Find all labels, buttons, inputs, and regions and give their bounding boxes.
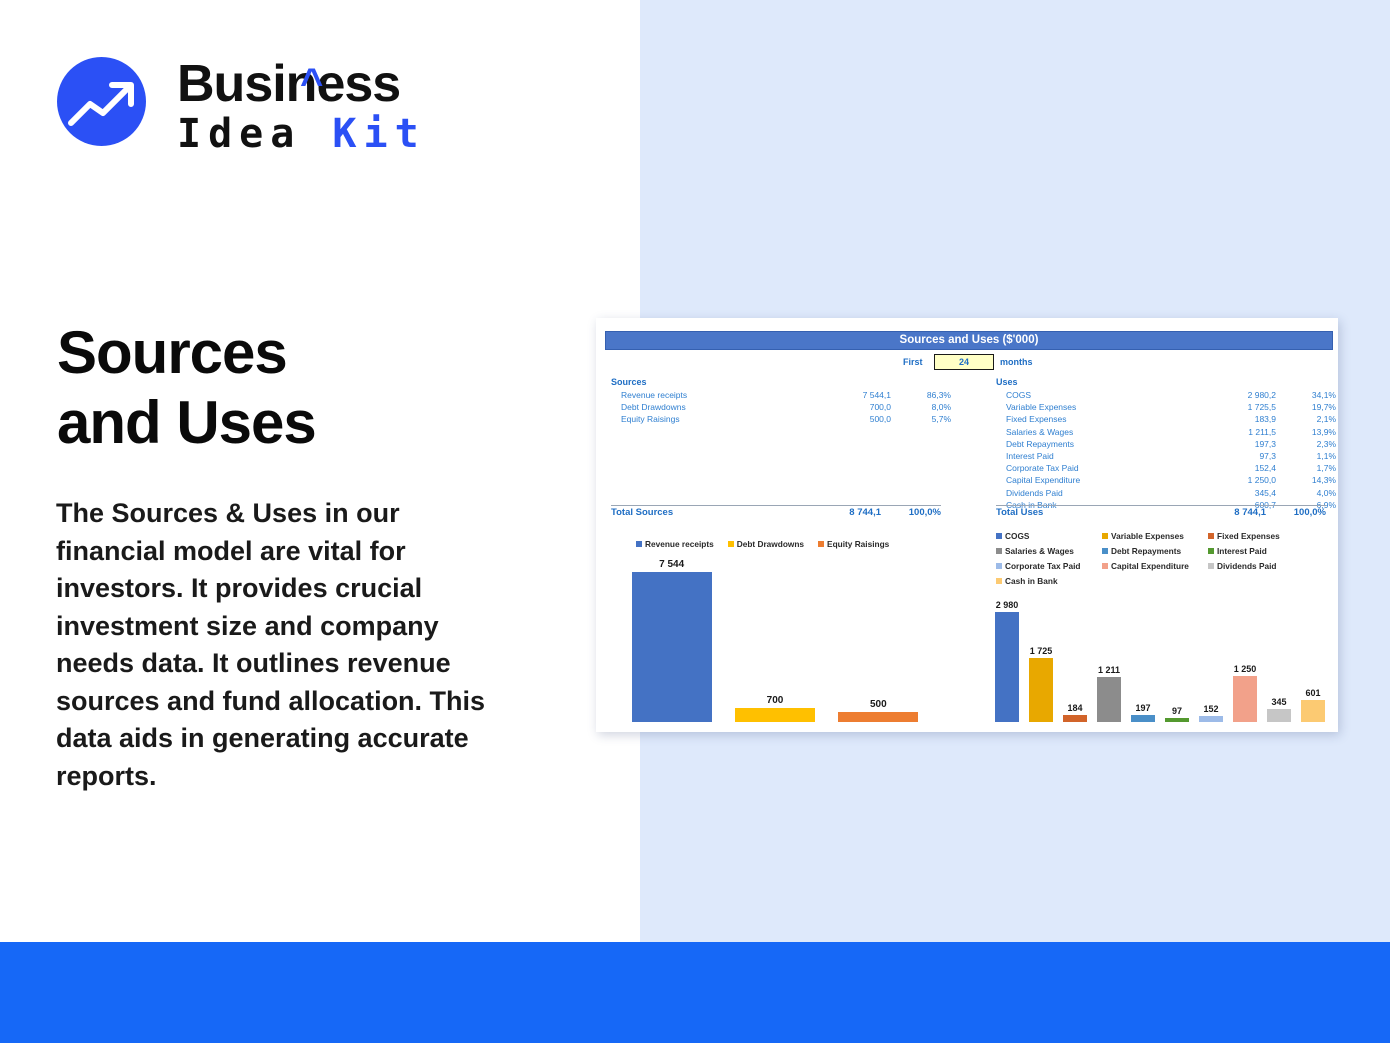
uses-row-name: Variable Expenses	[996, 401, 1206, 413]
legend-item[interactable]: Equity Raisings	[818, 539, 889, 549]
bar[interactable]	[735, 708, 815, 722]
table-row: COGS2 980,234,1%	[996, 389, 1326, 401]
uses-row-name: COGS	[996, 389, 1206, 401]
table-row: Salaries & Wages1 211,513,9%	[996, 426, 1326, 438]
legend-swatch-icon	[996, 533, 1002, 539]
table-row: Capital Expenditure1 250,014,3%	[996, 474, 1326, 486]
legend-item[interactable]: Cash in Bank	[996, 576, 1102, 586]
table-row: Corporate Tax Paid152,41,7%	[996, 462, 1326, 474]
uses-row-value: 1 725,5	[1206, 401, 1276, 413]
uses-row-pct: 1,1%	[1276, 450, 1336, 462]
legend-label: Interest Paid	[1217, 546, 1267, 556]
bar-value-label: 1 250	[1234, 664, 1257, 674]
bar-group: 197	[1126, 590, 1160, 722]
uses-table-body: COGS2 980,234,1%Variable Expenses1 725,5…	[996, 389, 1326, 511]
sources-row-pct: 86,3%	[891, 389, 951, 401]
brand-name-kit: Kit	[332, 111, 425, 157]
legend-label: Revenue receipts	[645, 539, 714, 549]
uses-row-value: 1 211,5	[1206, 426, 1276, 438]
bar-group: 2 980	[990, 590, 1024, 722]
sources-table-body: Revenue receipts7 544,186,3%Debt Drawdow…	[611, 389, 941, 426]
sources-bar-chart: 7 544700500	[620, 556, 930, 722]
legend-label: Variable Expenses	[1111, 531, 1184, 541]
uses-total-value: 8 744,1	[1196, 506, 1266, 520]
uses-table: Uses COGS2 980,234,1%Variable Expenses1 …	[996, 377, 1326, 511]
uses-row-name: Fixed Expenses	[996, 413, 1206, 425]
legend-swatch-icon	[728, 541, 734, 547]
uses-row-name: Corporate Tax Paid	[996, 462, 1206, 474]
legend-item[interactable]: Fixed Expenses	[1208, 531, 1314, 541]
legend-label: Debt Drawdowns	[737, 539, 804, 549]
bar[interactable]	[1233, 676, 1257, 722]
bar-value-label: 184	[1067, 703, 1082, 713]
assumption-suffix-label: months	[1000, 357, 1033, 367]
uses-row-name: Debt Repayments	[996, 438, 1206, 450]
uses-row-value: 97,3	[1206, 450, 1276, 462]
uses-row-value: 152,4	[1206, 462, 1276, 474]
sources-total-label: Total Sources	[611, 506, 811, 520]
legend-item[interactable]: Variable Expenses	[1102, 531, 1208, 541]
sources-table-header: Sources	[611, 377, 941, 389]
bar-value-label: 700	[767, 695, 784, 706]
table-row: Revenue receipts7 544,186,3%	[611, 389, 941, 401]
months-input[interactable]: 24	[934, 354, 994, 370]
bar[interactable]	[838, 712, 918, 722]
sources-row-pct: 5,7%	[891, 413, 951, 425]
uses-row-name: Interest Paid	[996, 450, 1206, 462]
legend-label: Corporate Tax Paid	[1005, 561, 1080, 571]
uses-total-row: Total Uses 8 744,1 100,0%	[996, 506, 1326, 520]
legend-item[interactable]: Revenue receipts	[636, 539, 714, 549]
sources-row-name: Equity Raisings	[611, 413, 821, 425]
uses-total-label: Total Uses	[996, 506, 1196, 520]
legend-item[interactable]: Debt Repayments	[1102, 546, 1208, 556]
brand-circumflex-accent: ^	[300, 61, 323, 106]
bar[interactable]	[632, 572, 712, 722]
uses-row-pct: 2,1%	[1276, 413, 1336, 425]
bar-group: 1 250	[1228, 590, 1262, 722]
bar[interactable]	[1131, 715, 1155, 722]
uses-row-name: Capital Expenditure	[996, 474, 1206, 486]
uses-row-pct: 19,7%	[1276, 401, 1336, 413]
page-title: Sources and Uses	[57, 318, 597, 458]
table-row: Interest Paid97,31,1%	[996, 450, 1326, 462]
bar[interactable]	[1165, 718, 1189, 722]
legend-item[interactable]: COGS	[996, 531, 1102, 541]
uses-bars: 2 9801 7251841 211197971521 250345601	[990, 590, 1330, 722]
uses-row-value: 197,3	[1206, 438, 1276, 450]
bar-value-label: 1 725	[1030, 646, 1053, 656]
sources-total-pct: 100,0%	[881, 506, 941, 520]
uses-row-value: 183,9	[1206, 413, 1276, 425]
uses-row-name: Salaries & Wages	[996, 426, 1206, 438]
bar-group: 7 544	[620, 556, 723, 722]
bar[interactable]	[1063, 715, 1087, 722]
uses-total-row-wrap: Total Uses 8 744,1 100,0%	[996, 503, 1326, 520]
uses-row-pct: 13,9%	[1276, 426, 1336, 438]
sources-chart-legend: Revenue receiptsDebt DrawdownsEquity Rai…	[636, 539, 936, 549]
bar[interactable]	[1301, 700, 1325, 722]
uses-row-value: 345,4	[1206, 487, 1276, 499]
uses-row-pct: 2,3%	[1276, 438, 1336, 450]
brand-name-top: Business	[177, 55, 400, 113]
legend-item[interactable]: Interest Paid	[1208, 546, 1314, 556]
uses-chart-legend: COGSVariable ExpensesFixed ExpensesSalar…	[996, 531, 1316, 591]
sources-total-row-wrap: Total Sources 8 744,1 100,0%	[611, 503, 941, 520]
bar-value-label: 1 211	[1098, 665, 1120, 675]
sources-row-name: Debt Drawdowns	[611, 401, 821, 413]
brand-logo: Business ^ Idea Kit	[57, 57, 437, 157]
bar-group: 1 211	[1092, 590, 1126, 722]
legend-swatch-icon	[1208, 533, 1214, 539]
sources-bars: 7 544700500	[620, 556, 930, 722]
legend-swatch-icon	[996, 578, 1002, 584]
uses-row-value: 2 980,2	[1206, 389, 1276, 401]
bar[interactable]	[1029, 658, 1053, 722]
bar[interactable]	[1097, 677, 1121, 722]
assumption-prefix-label: First	[903, 357, 923, 367]
footer-bar	[0, 942, 1390, 1043]
bar-value-label: 152	[1203, 704, 1218, 714]
bar[interactable]	[1199, 716, 1223, 722]
table-row: Debt Repayments197,32,3%	[996, 438, 1326, 450]
legend-item[interactable]: Corporate Tax Paid	[996, 561, 1102, 571]
bar-value-label: 345	[1271, 697, 1286, 707]
sources-total-row: Total Sources 8 744,1 100,0%	[611, 506, 941, 520]
uses-row-name: Dividends Paid	[996, 487, 1206, 499]
legend-swatch-icon	[1208, 548, 1214, 554]
sources-row-value: 500,0	[821, 413, 891, 425]
bar-value-label: 7 544	[659, 559, 684, 570]
legend-swatch-icon	[1102, 548, 1108, 554]
brand-name-idea: Idea	[177, 111, 301, 157]
uses-total-pct: 100,0%	[1266, 506, 1326, 520]
legend-swatch-icon	[818, 541, 824, 547]
bar-group: 184	[1058, 590, 1092, 722]
table-row: Debt Drawdowns700,08,0%	[611, 401, 941, 413]
bar-group: 152	[1194, 590, 1228, 722]
legend-label: Equity Raisings	[827, 539, 889, 549]
sources-table: Sources Revenue receipts7 544,186,3%Debt…	[611, 377, 941, 426]
bar-value-label: 197	[1135, 703, 1150, 713]
bar-group: 700	[723, 556, 826, 722]
page-description: The Sources & Uses in our financial mode…	[56, 495, 506, 795]
table-row: Fixed Expenses183,92,1%	[996, 413, 1326, 425]
bar-value-label: 2 980	[996, 600, 1019, 610]
sources-row-value: 7 544,1	[821, 389, 891, 401]
uses-row-pct: 14,3%	[1276, 474, 1336, 486]
legend-label: Dividends Paid	[1217, 561, 1276, 571]
sources-row-name: Revenue receipts	[611, 389, 821, 401]
bar-value-label: 601	[1305, 688, 1320, 698]
legend-swatch-icon	[1102, 563, 1108, 569]
legend-label: Fixed Expenses	[1217, 531, 1280, 541]
legend-swatch-icon	[636, 541, 642, 547]
legend-label: Capital Expenditure	[1111, 561, 1189, 571]
trending-up-arrow-icon	[57, 57, 146, 146]
legend-item[interactable]: Capital Expenditure	[1102, 561, 1208, 571]
uses-row-pct: 4,0%	[1276, 487, 1336, 499]
uses-bar-chart: 2 9801 7251841 211197971521 250345601	[990, 590, 1330, 722]
bar-value-label: 97	[1172, 706, 1182, 716]
table-row: Variable Expenses1 725,519,7%	[996, 401, 1326, 413]
bar-group: 500	[827, 556, 930, 722]
uses-row-pct: 34,1%	[1276, 389, 1336, 401]
bar-group: 1 725	[1024, 590, 1058, 722]
sources-total-value: 8 744,1	[811, 506, 881, 520]
legend-label: Salaries & Wages	[1005, 546, 1074, 556]
page-title-line-2: and Uses	[57, 388, 597, 458]
uses-row-value: 1 250,0	[1206, 474, 1276, 486]
legend-swatch-icon	[1102, 533, 1108, 539]
bar-group: 345	[1262, 590, 1296, 722]
legend-label: COGS	[1005, 531, 1029, 541]
table-row: Equity Raisings500,05,7%	[611, 413, 941, 425]
bar[interactable]	[1267, 709, 1291, 722]
legend-swatch-icon	[996, 563, 1002, 569]
legend-label: Cash in Bank	[1005, 576, 1058, 586]
sources-row-value: 700,0	[821, 401, 891, 413]
uses-row-pct: 1,7%	[1276, 462, 1336, 474]
legend-swatch-icon	[996, 548, 1002, 554]
bar-group: 601	[1296, 590, 1330, 722]
sources-row-pct: 8,0%	[891, 401, 951, 413]
legend-item[interactable]: Salaries & Wages	[996, 546, 1102, 556]
legend-swatch-icon	[1208, 563, 1214, 569]
bar-group: 97	[1160, 590, 1194, 722]
legend-item[interactable]: Dividends Paid	[1208, 561, 1314, 571]
bar-value-label: 500	[870, 699, 887, 710]
legend-item[interactable]: Debt Drawdowns	[728, 539, 804, 549]
table-row: Dividends Paid345,44,0%	[996, 487, 1326, 499]
brand-name-bottom: Idea Kit	[177, 111, 426, 157]
uses-table-header: Uses	[996, 377, 1326, 389]
bar[interactable]	[995, 612, 1019, 722]
legend-label: Debt Repayments	[1111, 546, 1181, 556]
page-title-line-1: Sources	[57, 318, 597, 388]
panel-title: Sources and Uses ($'000)	[605, 331, 1333, 350]
